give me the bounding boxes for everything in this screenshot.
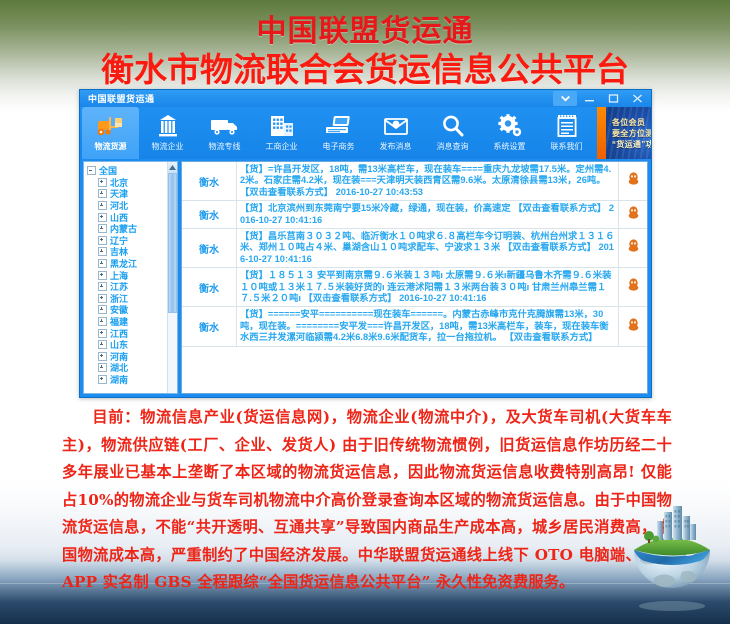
row-message-cell[interactable]: 【货】北京滨州到东莞南宁要15米冷藏，绿通，现在装，价高速定 【双击查看联系方式…: [237, 201, 619, 229]
membership-banner: 各位会员 要全方位测试 “货运通”功能！: [606, 107, 651, 159]
application-window: 中国联盟货运通: [79, 89, 652, 398]
tree-expand-icon[interactable]: [98, 340, 107, 349]
toolbar-item-message-search[interactable]: 消息查询: [424, 107, 481, 159]
table-row[interactable]: 衡水 【货】北京滨州到东莞南宁要15米冷藏，绿通，现在装，价高速定 【双击查看联…: [182, 201, 647, 229]
row-action-cell[interactable]: [619, 201, 648, 229]
building-icon: [156, 111, 180, 140]
window-title: 中国联盟货运通: [88, 92, 155, 105]
region-tree: 全国 北京 天津 河北 山西 内蒙古 辽宁 吉林 黑龙江 上海 江苏 浙江 安徽…: [84, 162, 177, 385]
toolbar-label: 物流专线: [209, 141, 241, 152]
poster-header: 中国联盟货运通 衡水市物流联合会货运信息公共平台: [0, 14, 730, 90]
tree-expand-icon[interactable]: [98, 236, 107, 245]
poster-body-text: 目前：物流信息产业(货运信息网)，物流企业(物流中介)，及大货车司机(大货车车主…: [62, 404, 672, 597]
truck-icon: [210, 111, 240, 140]
row-message-cell[interactable]: 【货】１８５１３ 安平到南京需９.６米装１３吨ı 太原需９.６米ı新疆乌鲁木齐需…: [237, 268, 619, 307]
row-message-text: 【货】=许昌开发区，18吨，需13米高栏车，现在装车====重庆九龙坡需17.5…: [240, 164, 611, 197]
toolbar-label: 联系我们: [551, 141, 583, 152]
table-row[interactable]: 衡水 【货】昌乐莒南３０３２吨、临沂衡水１０吨求６.８高栏车今订明装、杭州台州求…: [182, 229, 647, 268]
forklift-icon: [97, 111, 124, 140]
tree-node-liaoning[interactable]: 辽宁: [87, 235, 175, 247]
toolbar-label: 消息查询: [437, 141, 469, 152]
row-message-text: 【货】北京滨州到东莞南宁要15米冷藏，绿通，现在装，价高速定 【双击查看联系方式…: [240, 203, 606, 213]
row-timestamp: 2016-10-27 10:41:16: [399, 293, 486, 303]
row-message-text: 【货】======安平==========现在装车======。内蒙古赤峰市克什…: [240, 309, 609, 342]
main-toolbar: 物流货源 物流企业: [80, 107, 651, 159]
qq-icon[interactable]: [628, 206, 639, 219]
envelope-icon: [383, 111, 409, 140]
office-building-icon: [269, 111, 295, 140]
toolbar-item-publish-message[interactable]: 发布消息: [367, 107, 424, 159]
tree-node-label: 湖南: [110, 373, 128, 386]
minimize-button[interactable]: [577, 91, 601, 106]
qq-icon[interactable]: [628, 172, 639, 185]
row-message-cell[interactable]: 【货】昌乐莒南３０３２吨、临沂衡水１０吨求６.８高栏车今订明装、杭州台州求１３１…: [237, 229, 619, 268]
toolbar-item-cargo-source[interactable]: 物流货源: [82, 107, 139, 159]
row-message-cell[interactable]: 【货】======安平==========现在装车======。内蒙古赤峰市克什…: [237, 307, 619, 346]
tree-vertical-scrollbar[interactable]: [167, 162, 177, 393]
tree-node-zhejiang[interactable]: 浙江: [87, 293, 175, 305]
toolbar-item-business-enterprises[interactable]: 工商企业: [253, 107, 310, 159]
toolbar-item-logistics-lines[interactable]: 物流专线: [196, 107, 253, 159]
row-action-cell[interactable]: [619, 268, 648, 307]
row-action-cell[interactable]: [619, 229, 648, 268]
tree-expand-icon[interactable]: [98, 247, 107, 256]
toolbar-label: 发布消息: [380, 141, 412, 152]
tree-node-hunan[interactable]: 湖南: [87, 374, 175, 386]
toolbar-label: 系统设置: [494, 141, 526, 152]
qq-icon[interactable]: [628, 239, 639, 252]
tree-expand-icon[interactable]: [98, 178, 107, 187]
banner-line-3: “货运通”功能！: [612, 139, 651, 150]
tree-expand-icon[interactable]: [98, 317, 107, 326]
tree-node-anhui[interactable]: 安徽: [87, 304, 175, 316]
tree-node-inner-mongolia[interactable]: 内蒙古: [87, 223, 175, 235]
poster-title-line2: 衡水市物流联合会货运信息公共平台: [0, 50, 730, 90]
row-action-cell[interactable]: [619, 162, 648, 201]
tree-node-shandong[interactable]: 山东: [87, 339, 175, 351]
tree-expand-icon[interactable]: [98, 201, 107, 210]
cargo-message-grid: 衡水 【货】=许昌开发区，18吨，需13米高栏车，现在装车====重庆九龙坡需1…: [181, 161, 648, 394]
search-icon: [441, 111, 465, 140]
table-row[interactable]: 衡水 【货】１８５１３ 安平到南京需９.６米装１３吨ı 太原需９.６米ı新疆乌鲁…: [182, 268, 647, 307]
toolbar-item-system-settings[interactable]: 系统设置: [481, 107, 538, 159]
close-button[interactable]: [625, 91, 649, 106]
poster-page: 中国联盟货运通 衡水市物流联合会货运信息公共平台 中国联盟货运通: [0, 0, 730, 624]
tree-node-jiangsu[interactable]: 江苏: [87, 281, 175, 293]
banner-line-2: 要全方位测试: [612, 128, 651, 139]
tree-expand-icon[interactable]: [98, 305, 107, 314]
tree-node-heilongjiang[interactable]: 黑龙江: [87, 258, 175, 270]
tree-node-jilin[interactable]: 吉林: [87, 246, 175, 258]
tree-node-beijing[interactable]: 北京: [87, 177, 175, 189]
table-row[interactable]: 衡水 【货】=许昌开发区，18吨，需13米高栏车，现在装车====重庆九龙坡需1…: [182, 162, 647, 201]
toolbar-item-logistics-companies[interactable]: 物流企业: [139, 107, 196, 159]
tree-expand-icon[interactable]: [98, 259, 107, 268]
tree-node-shanxi[interactable]: 山西: [87, 211, 175, 223]
tree-node-fujian[interactable]: 福建: [87, 316, 175, 328]
tree-expand-icon[interactable]: [98, 189, 107, 198]
qq-icon[interactable]: [628, 318, 639, 331]
tree-node-hebei[interactable]: 河北: [87, 200, 175, 212]
tree-node-root[interactable]: 全国: [87, 165, 175, 177]
toolbar-label: 工商企业: [266, 141, 298, 152]
window-titlebar: 中国联盟货运通: [80, 90, 651, 107]
tree-node-shanghai[interactable]: 上海: [87, 269, 175, 281]
scrollbar-thumb[interactable]: [168, 173, 177, 313]
row-message-text: 【货】昌乐莒南３０３２吨、临沂衡水１０吨求６.８高栏车今订明装、杭州台州求１３１…: [240, 231, 614, 252]
row-city: 衡水: [182, 229, 237, 268]
tree-node-hubei[interactable]: 湖北: [87, 362, 175, 374]
tree-expand-icon[interactable]: [98, 282, 107, 291]
tree-collapse-icon[interactable]: [87, 166, 96, 175]
row-city: 衡水: [182, 201, 237, 229]
poster-title-line1: 中国联盟货运通: [0, 14, 730, 50]
globe-city-icon: [624, 502, 720, 614]
tree-expand-icon[interactable]: [98, 352, 107, 361]
maximize-button[interactable]: [601, 91, 625, 106]
gear-icon: [497, 111, 523, 140]
scroll-up-arrow-icon[interactable]: [168, 162, 177, 173]
tree-expand-icon[interactable]: [98, 271, 107, 280]
tree-expand-icon[interactable]: [98, 213, 107, 222]
banner-line-1: 各位会员: [612, 117, 651, 128]
qq-icon[interactable]: [628, 278, 639, 291]
tree-node-henan[interactable]: 河南: [87, 351, 175, 363]
application-body: 全国 北京 天津 河北 山西 内蒙古 辽宁 吉林 黑龙江 上海 江苏 浙江 安徽…: [80, 159, 651, 397]
tree-expand-icon[interactable]: [98, 294, 107, 303]
tree-node-jiangxi[interactable]: 江西: [87, 327, 175, 339]
tree-expand-icon[interactable]: [98, 329, 107, 338]
tree-expand-icon[interactable]: [98, 363, 107, 372]
table-row[interactable]: 衡水 【货】======安平==========现在装车======。内蒙古赤峰…: [182, 307, 647, 346]
toolbar-divider: [597, 107, 606, 159]
row-message-cell[interactable]: 【货】=许昌开发区，18吨，需13米高栏车，现在装车====重庆九龙坡需17.5…: [237, 162, 619, 201]
row-city: 衡水: [182, 307, 237, 346]
row-timestamp: 2016-10-27 10:43:53: [336, 187, 423, 197]
toolbar-label: 物流企业: [152, 141, 184, 152]
row-city: 衡水: [182, 268, 237, 307]
toolbar-item-contact-us[interactable]: 联系我们: [538, 107, 595, 159]
row-city: 衡水: [182, 162, 237, 201]
row-action-cell[interactable]: [619, 307, 648, 346]
toolbar-label: 物流货源: [95, 141, 127, 152]
ecommerce-icon: [325, 111, 353, 140]
tree-expand-icon[interactable]: [98, 224, 107, 233]
document-icon: [556, 111, 578, 140]
region-tree-panel: 全国 北京 天津 河北 山西 内蒙古 辽宁 吉林 黑龙江 上海 江苏 浙江 安徽…: [83, 161, 178, 394]
toolbar-item-ecommerce[interactable]: 电子商务: [310, 107, 367, 159]
tree-node-tianjin[interactable]: 天津: [87, 188, 175, 200]
toolbar-label: 电子商务: [323, 141, 355, 152]
dropdown-button[interactable]: [553, 91, 577, 106]
tree-expand-icon[interactable]: [98, 375, 107, 384]
window-controls: [553, 90, 649, 107]
